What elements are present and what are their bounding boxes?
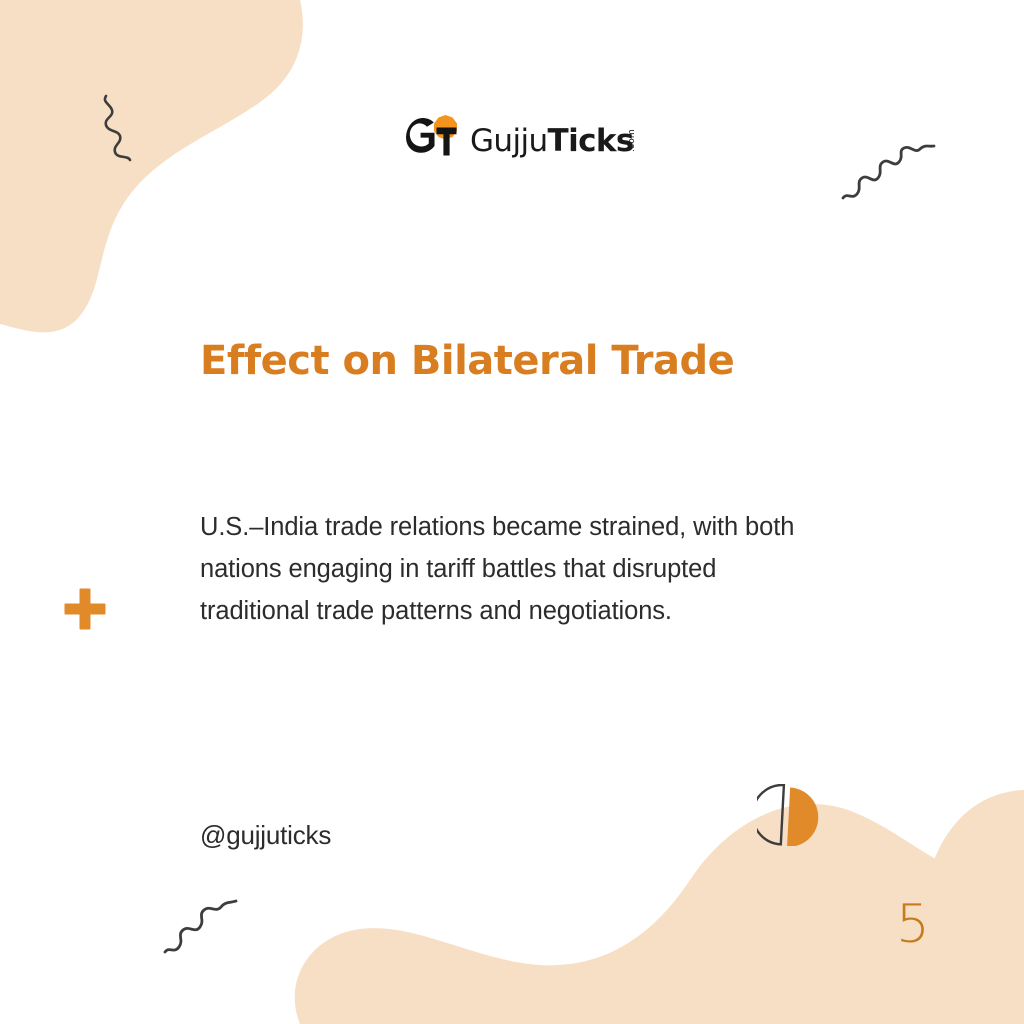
plus-icon (64, 588, 106, 630)
page-number: 5 (896, 898, 930, 951)
logo-wordmark: GujjuTicks.com (470, 126, 657, 157)
logo-mark-gt-icon (405, 114, 461, 160)
page-title: Effect on Bilateral Trade (200, 339, 734, 383)
logo-letter-g (406, 118, 434, 153)
squiggle-bottom-left-icon (162, 896, 240, 958)
squiggle-top-right-icon (840, 142, 938, 204)
social-handle: @gujjuticks (200, 820, 331, 851)
half-disc-filled (759, 784, 819, 846)
logo-word-ticks: Ticks (548, 123, 634, 159)
logo-letter-t (437, 128, 457, 156)
logo-dotcom: .com (628, 129, 637, 152)
half-disc-icon (757, 784, 819, 846)
logo-word-gujju: Gujju (470, 123, 548, 159)
squiggle-top-left-icon (100, 92, 164, 164)
brand-logo: GujjuTicks.com (405, 108, 657, 160)
blob-top-left (0, 0, 303, 332)
slide-canvas: GujjuTicks.com Effect on Bilateral Trade… (0, 0, 1024, 1024)
body-text: U.S.–India trade relations became strain… (200, 506, 830, 633)
